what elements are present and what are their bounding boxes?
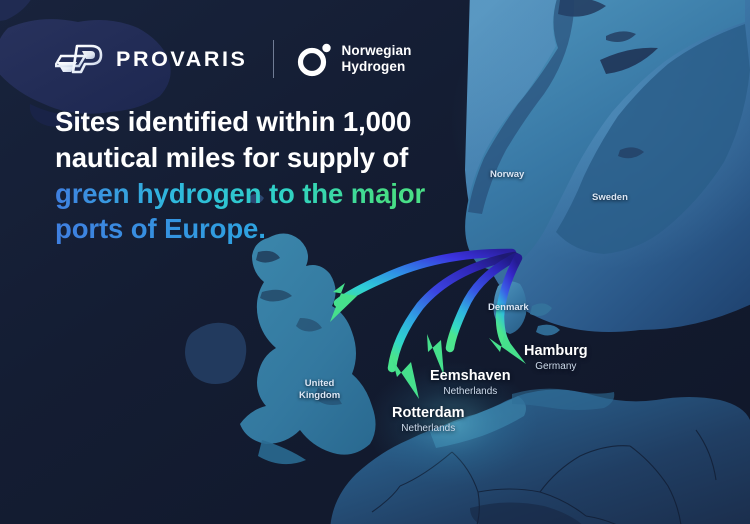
uk-label-line2: Kingdom [299, 390, 340, 402]
country-label-united-kingdom: United Kingdom [299, 378, 340, 402]
port-name-hamburg: Hamburg [524, 344, 588, 360]
headline-line-1: Sites identified within 1,000 [55, 104, 455, 140]
nh-word-line1: Norwegian [342, 43, 412, 59]
infographic-canvas: PROVARIS Norwegian Hydrogen Sites identi… [0, 0, 750, 524]
provaris-logo[interactable]: PROVARIS [55, 42, 248, 76]
country-label-norway: Norway [490, 169, 524, 180]
port-name-eemshaven: Eemshaven [430, 369, 511, 385]
norwegian-hydrogen-ring-icon [297, 42, 332, 77]
headline-line-2: nautical miles for supply of [55, 140, 455, 176]
provaris-p-mark-icon [55, 42, 103, 76]
country-label-sweden: Sweden [592, 192, 628, 203]
headline: Sites identified within 1,000 nautical m… [55, 104, 455, 247]
port-country-rotterdam: Netherlands [392, 422, 465, 436]
port-label-eemshaven: Eemshaven Netherlands [430, 369, 511, 398]
brand-logo-bar: PROVARIS Norwegian Hydrogen [55, 36, 411, 82]
nh-word-line2: Hydrogen [342, 59, 412, 75]
port-name-rotterdam: Rotterdam [392, 406, 465, 422]
norwegian-hydrogen-logo[interactable]: Norwegian Hydrogen [297, 42, 412, 77]
norwegian-hydrogen-wordmark: Norwegian Hydrogen [342, 43, 412, 75]
port-country-eemshaven: Netherlands [430, 385, 511, 399]
port-label-hamburg: Hamburg Germany [524, 344, 588, 373]
port-label-rotterdam: Rotterdam Netherlands [392, 406, 465, 435]
port-country-hamburg: Germany [524, 360, 588, 374]
uk-label-line1: United [299, 378, 340, 390]
headline-line-4: ports of Europe. [55, 211, 455, 247]
provaris-wordmark: PROVARIS [116, 47, 248, 72]
headline-line-3: green hydrogen to the major [55, 176, 455, 212]
country-label-denmark: Denmark [488, 302, 529, 313]
logo-divider [273, 40, 274, 78]
